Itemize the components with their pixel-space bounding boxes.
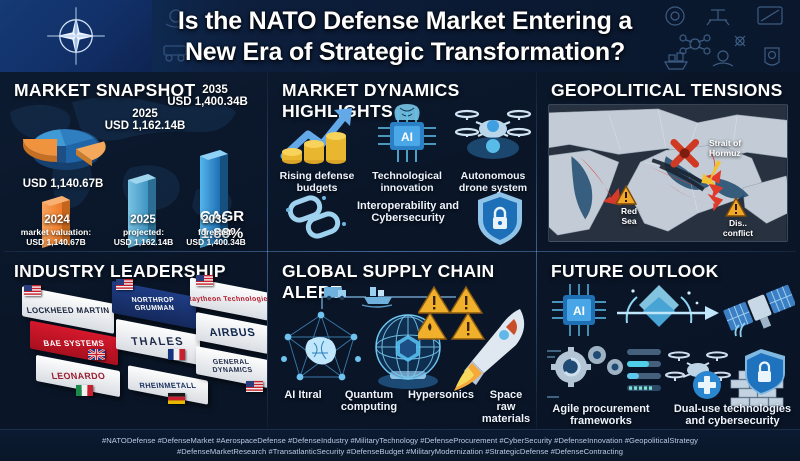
rocket-icon — [452, 305, 534, 393]
neural-brain-icon — [278, 309, 364, 391]
map-label-red-sea: Red Sea — [609, 206, 649, 226]
supply-label-space: Space raw materials — [476, 389, 536, 425]
bar-captions: 2024 market valuation: USD 1,140.67B 202… — [0, 214, 267, 254]
bar-2035-year: 2035 — [180, 214, 250, 226]
ai-chip-icon: AI — [549, 281, 609, 339]
flag-uk-bae-icon — [88, 349, 105, 360]
drone-icon — [454, 100, 532, 170]
flag-us-raytheon-icon — [196, 275, 213, 286]
bar-2035-caption-2: USD 1,400.34B — [168, 237, 264, 247]
bar-2035-top-year: 2035 — [168, 84, 262, 96]
arrow-transform-icon — [613, 281, 721, 339]
title-line-2: New Era of Strategic Transformation? — [185, 37, 625, 68]
coins-growth-icon — [278, 102, 356, 170]
pie-value-label: USD 1,140.67B — [8, 178, 118, 190]
nato-compass-star-icon — [46, 6, 106, 66]
supply-label-ai: AI Itıral — [268, 389, 332, 425]
chain-link-icon — [282, 194, 352, 246]
truck-icon — [324, 287, 346, 300]
panel-title-future-outlook: FUTURE OUTLOOK — [551, 261, 719, 282]
bar-2035-top-value: USD 1,400.34B — [150, 96, 265, 108]
flag-us-gd-icon — [246, 381, 263, 392]
panel-industry-leadership: INDUSTRY LEADERSHIP LOCKHEED MARTIN NORT… — [0, 253, 267, 429]
flag-us-northrop-icon — [116, 279, 133, 290]
future-outlook-labels: Agile procurement frameworks Dual-use te… — [537, 403, 800, 427]
page-title: Is the NATO Defense Market Entering a Ne… — [150, 3, 660, 71]
supply-chain-labels: AI Itıral Quantum computing Hypersonics … — [268, 389, 536, 425]
infographic-root: Is the NATO Defense Market Entering a Ne… — [0, 0, 800, 461]
tension-map: Strait of Hormuz Red Sea Dis.. conflict — [548, 104, 788, 242]
svg-text:AI: AI — [401, 130, 413, 144]
bar-2025-year: 2025 — [108, 214, 178, 226]
bar-2025-top-value: USD 1,162.14B — [90, 120, 200, 132]
warning-triangle-red-sea-icon — [615, 185, 637, 205]
drone-medical-shield-icon — [665, 345, 795, 411]
bar-2025-top-year: 2025 — [98, 108, 192, 120]
hashtag-line-2: #DefenseMarketResearch #TransatlanticSec… — [177, 446, 623, 457]
map-label-hormuz: Strait of Hormuz — [709, 138, 783, 158]
bar-2024-caption-2: USD 1,140.67B — [6, 237, 106, 247]
satellite-icon — [723, 279, 795, 341]
future-label-agile: Agile procurement frameworks — [537, 403, 665, 427]
warning-triangle-conflict-icon — [725, 197, 747, 217]
gears-progress-icon — [545, 345, 663, 407]
hashtag-line-1: #NATODefense #DefenseMarket #AerospaceDe… — [102, 435, 698, 446]
title-line-1: Is the NATO Defense Market Entering a — [178, 6, 632, 37]
panel-future-outlook: FUTURE OUTLOOK AI — [537, 253, 800, 429]
svg-text:AI: AI — [573, 304, 585, 318]
ai-chip-brain-icon: AI — [372, 98, 442, 170]
flag-de-rheinmetall-icon — [168, 393, 185, 404]
panel-title-geopolitical: GEOPOLITICAL TENSIONS — [551, 80, 783, 101]
flag-us-lockheed-icon — [24, 285, 41, 296]
panel-grid: MARKET SNAPSHOT USD 1,140.67B — [0, 72, 800, 429]
panel-geopolitical-tensions: GEOPOLITICAL TENSIONS — [537, 72, 800, 252]
supply-label-quantum: Quantum computing — [332, 389, 406, 425]
panel-supply-chain: GLOBAL SUPPLY CHAIN ALERT — [268, 253, 536, 429]
header: Is the NATO Defense Market Entering a Ne… — [0, 0, 800, 72]
flag-it-leonardo-icon — [76, 385, 93, 396]
bar-2024-caption-1: market valuation: — [6, 227, 106, 237]
dynamics-item-0-label: Rising defense budgets — [270, 170, 364, 194]
panel-market-dynamics: MARKET DYNAMICS HIGHLIGHTS Rising defens… — [268, 72, 536, 252]
shield-lock-icon — [474, 190, 526, 248]
supply-label-hypersonics: Hypersonics — [406, 389, 476, 425]
map-label-conflict: Dis.. conflict — [714, 218, 762, 238]
bar-2024-year: 2024 — [22, 214, 92, 226]
flag-fr-thales-icon — [168, 349, 185, 360]
bar-2035-caption-1: forecast: — [170, 227, 262, 237]
dynamics-item-3-label: Interoperability and Cybersecurity — [346, 200, 470, 224]
header-decorative-icons-right — [653, 0, 798, 72]
dynamics-item-1-label: Technological innovation — [366, 170, 448, 194]
hashtag-footer: #NATODefense #DefenseMarket #AerospaceDe… — [0, 429, 800, 461]
header-logo-panel — [0, 0, 152, 72]
future-label-dual-use: Dual-use technologies and cybersecurity — [665, 403, 800, 427]
